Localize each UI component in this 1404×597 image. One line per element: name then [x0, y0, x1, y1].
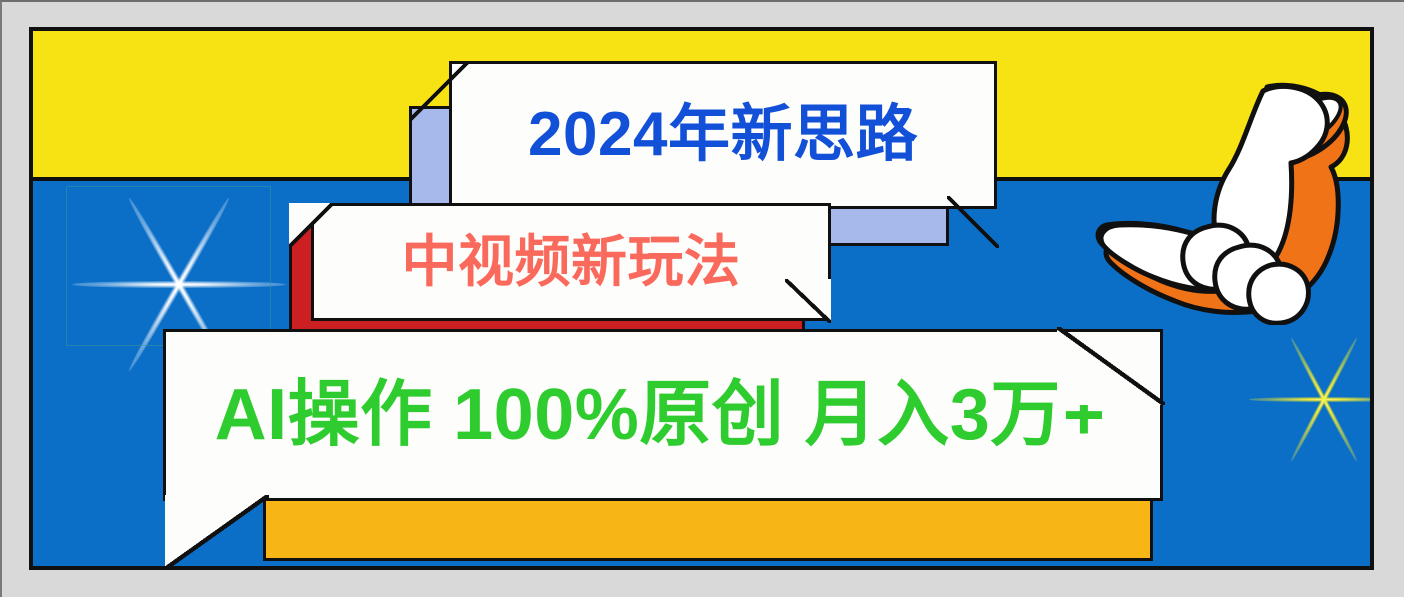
banner-ai-income-fold-bottomleft-icon [165, 495, 269, 569]
guide-rect-left [66, 186, 271, 346]
poster-artboard: 2024年新思路 中视频新玩法 AI操作 100%原创 月入3万+ [29, 27, 1374, 570]
banner-year-idea-text: 2024年新思路 [452, 104, 994, 166]
banner-ai-income: AI操作 100%原创 月入3万+ [163, 329, 1163, 561]
banner-mid-video-plate: 中视频新玩法 [311, 203, 831, 321]
banner-mid-video-fold-topleft-icon [289, 203, 333, 247]
sparkle-yellow-icon [1249, 329, 1374, 469]
banner-year-idea-fold-bottomright-icon [947, 196, 999, 248]
pointing-hand-cursor-icon [1079, 75, 1369, 325]
banner-ai-income-fold-bottomright-icon [1057, 327, 1165, 405]
banner-mid-video: 中视频新玩法 [289, 203, 849, 343]
poster-canvas: 2024年新思路 中视频新玩法 AI操作 100%原创 月入3万+ [0, 0, 1404, 597]
banner-mid-video-text: 中视频新玩法 [314, 234, 828, 290]
banner-ai-income-text: AI操作 100%原创 月入3万+ [166, 379, 1160, 451]
banner-mid-video-fold-bottomright-icon [785, 279, 831, 323]
banner-year-idea-fold-topleft-icon [409, 61, 469, 121]
banner-ai-income-plate: AI操作 100%原创 月入3万+ [163, 329, 1163, 501]
banner-year-idea-plate: 2024年新思路 [449, 61, 997, 209]
